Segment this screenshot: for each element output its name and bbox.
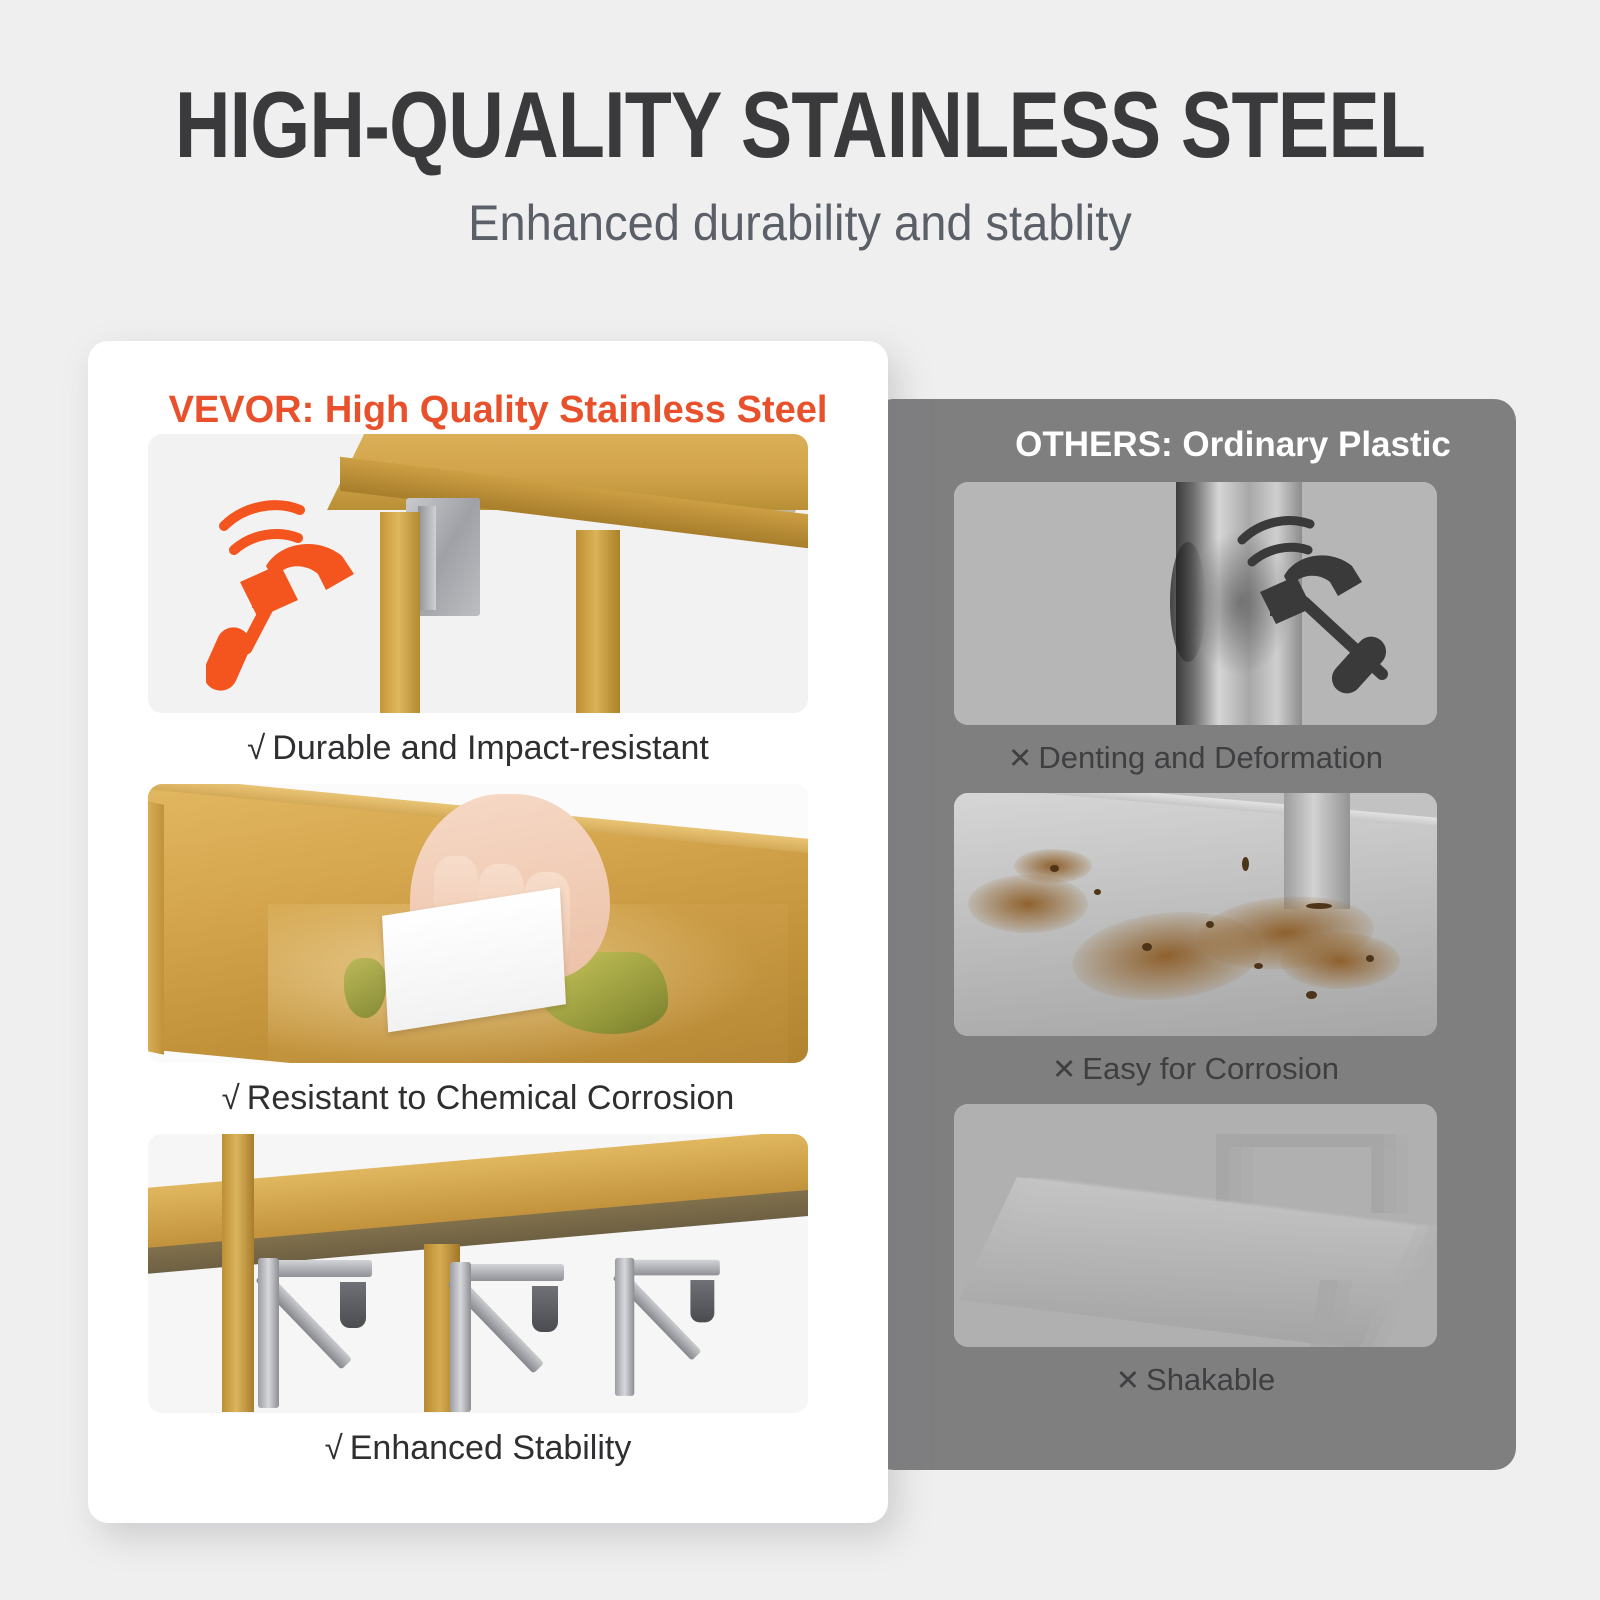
vevor-caption-durable: √Durable and Impact-resistant: [148, 713, 808, 784]
page-subtitle: Enhanced durability and stablity: [48, 172, 1552, 248]
others-caption-text: Shakable: [1146, 1362, 1275, 1397]
hammer-icon: [206, 486, 384, 696]
vevor-list-item: √Durable and Impact-resistant: [148, 434, 888, 784]
page-header: HIGH-QUALITY STAINLESS STEEL Enhanced du…: [0, 0, 1600, 248]
others-panel-title: OTHERS: Ordinary Plastic: [872, 425, 1516, 465]
vevor-caption-text: Durable and Impact-resistant: [272, 729, 709, 767]
vevor-list-item: √Enhanced Stability: [148, 1134, 888, 1484]
vevor-caption-text: Enhanced Stability: [350, 1429, 632, 1467]
vevor-comparison-card: VEVOR: High Quality Stainless Steel: [88, 341, 888, 1523]
folding-bracket: [448, 1256, 576, 1413]
others-caption-text: Easy for Corrosion: [1082, 1051, 1339, 1086]
others-list-item: ✕Easy for Corrosion: [954, 793, 1516, 1104]
vevor-caption-chemical-resistant: √Resistant to Chemical Corrosion: [148, 1063, 808, 1134]
others-caption-shakable: ✕Shakable: [954, 1347, 1437, 1415]
vevor-caption-text: Resistant to Chemical Corrosion: [247, 1079, 735, 1117]
others-comparison-panel: OTHERS: Ordinary Plastic: [872, 399, 1516, 1470]
check-icon: √: [247, 729, 272, 766]
shakable-scene: [954, 1104, 1437, 1347]
others-image-shakable: [954, 1104, 1437, 1347]
others-list-item: ✕Denting and Deformation: [954, 482, 1516, 793]
denting-scene: [954, 482, 1437, 725]
check-icon: √: [222, 1079, 247, 1116]
vevor-caption-stability: √Enhanced Stability: [148, 1413, 808, 1484]
hammer-icon: [1226, 504, 1394, 704]
cross-icon: ✕: [1116, 1365, 1146, 1397]
check-icon: √: [325, 1429, 350, 1466]
durable-scene: [148, 434, 808, 713]
chemical-resistance-scene: [148, 784, 808, 1063]
others-tile-list: ✕Denting and Deformation: [954, 482, 1516, 1415]
page-title: HIGH-QUALITY STAINLESS STEEL: [144, 0, 1456, 172]
vevor-image-stability: [148, 1134, 808, 1413]
cross-icon: ✕: [1052, 1054, 1082, 1086]
vevor-image-durable: [148, 434, 808, 713]
others-image-denting: [954, 482, 1437, 725]
stability-scene: [148, 1134, 808, 1413]
others-caption-corrosion: ✕Easy for Corrosion: [954, 1036, 1437, 1104]
others-list-item: ✕Shakable: [954, 1104, 1516, 1415]
vevor-image-chemical-resistant: [148, 784, 808, 1063]
vevor-card-title: VEVOR: High Quality Stainless Steel: [88, 389, 888, 432]
folding-bracket: [256, 1252, 384, 1412]
others-caption-text: Denting and Deformation: [1038, 740, 1383, 775]
others-image-corrosion: [954, 793, 1437, 1036]
others-caption-denting: ✕Denting and Deformation: [954, 725, 1437, 793]
corrosion-scene: [954, 793, 1437, 1036]
vevor-list-item: √Resistant to Chemical Corrosion: [148, 784, 888, 1134]
cross-icon: ✕: [1008, 743, 1038, 775]
folding-bracket: [613, 1252, 731, 1399]
vevor-tile-list: √Durable and Impact-resistant: [148, 434, 888, 1484]
